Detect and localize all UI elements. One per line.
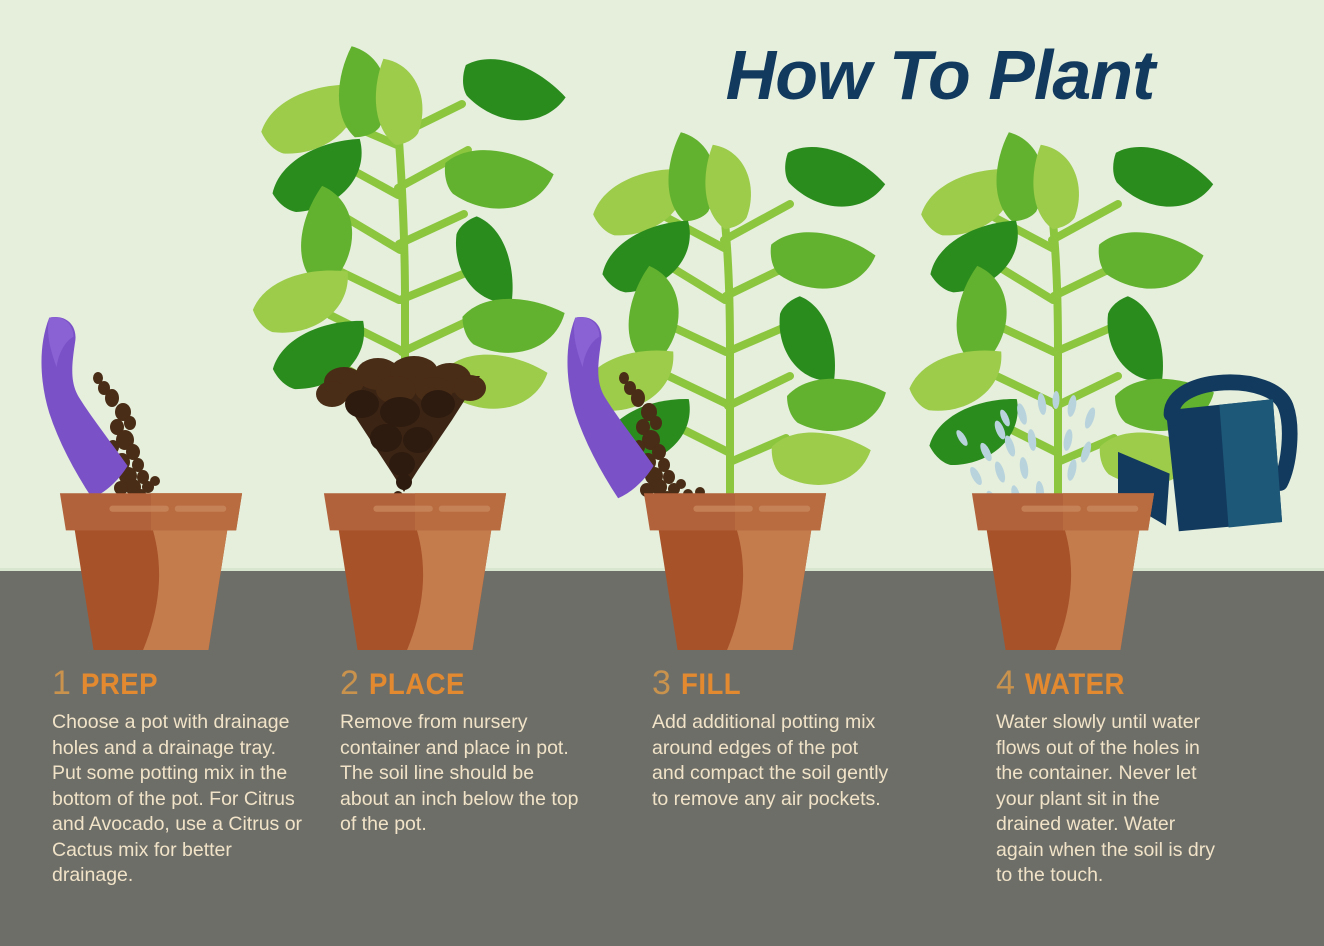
- step-number-2: 2: [340, 664, 359, 702]
- step-number-4: 4: [996, 664, 1015, 702]
- step-body-prep: Choose a pot with drainage holes and a d…: [52, 710, 304, 889]
- step-heading-fill: 3FILL: [652, 664, 892, 704]
- step-number-1: 1: [52, 664, 71, 702]
- step-item-fill: 3FILL Add additional potting mix around …: [652, 664, 892, 812]
- how-to-plant-poster: How To Plant: [0, 0, 1324, 946]
- step-item-place: 2PLACE Remove from nursery container and…: [340, 664, 582, 838]
- step-number-3: 3: [652, 664, 671, 702]
- steps-container: 1PREP Choose a pot with drainage holes a…: [0, 664, 1324, 946]
- step-body-fill: Add additional potting mix around edges …: [652, 710, 892, 812]
- page-title: How To Plant: [690, 36, 1190, 114]
- step-title-prep: PREP: [81, 666, 158, 704]
- step-heading-prep: 1PREP: [52, 664, 304, 704]
- step-heading-water: 4WATER: [996, 664, 1228, 704]
- step-item-water: 4WATER Water slowly until water flows ou…: [996, 664, 1228, 889]
- step-title-water: WATER: [1025, 666, 1125, 704]
- step-heading-place: 2PLACE: [340, 664, 582, 704]
- step-title-place: PLACE: [369, 666, 465, 704]
- step-item-prep: 1PREP Choose a pot with drainage holes a…: [52, 664, 304, 889]
- step-body-place: Remove from nursery container and place …: [340, 710, 582, 838]
- step-body-water: Water slowly until water flows out of th…: [996, 710, 1228, 889]
- step-title-fill: FILL: [681, 666, 741, 704]
